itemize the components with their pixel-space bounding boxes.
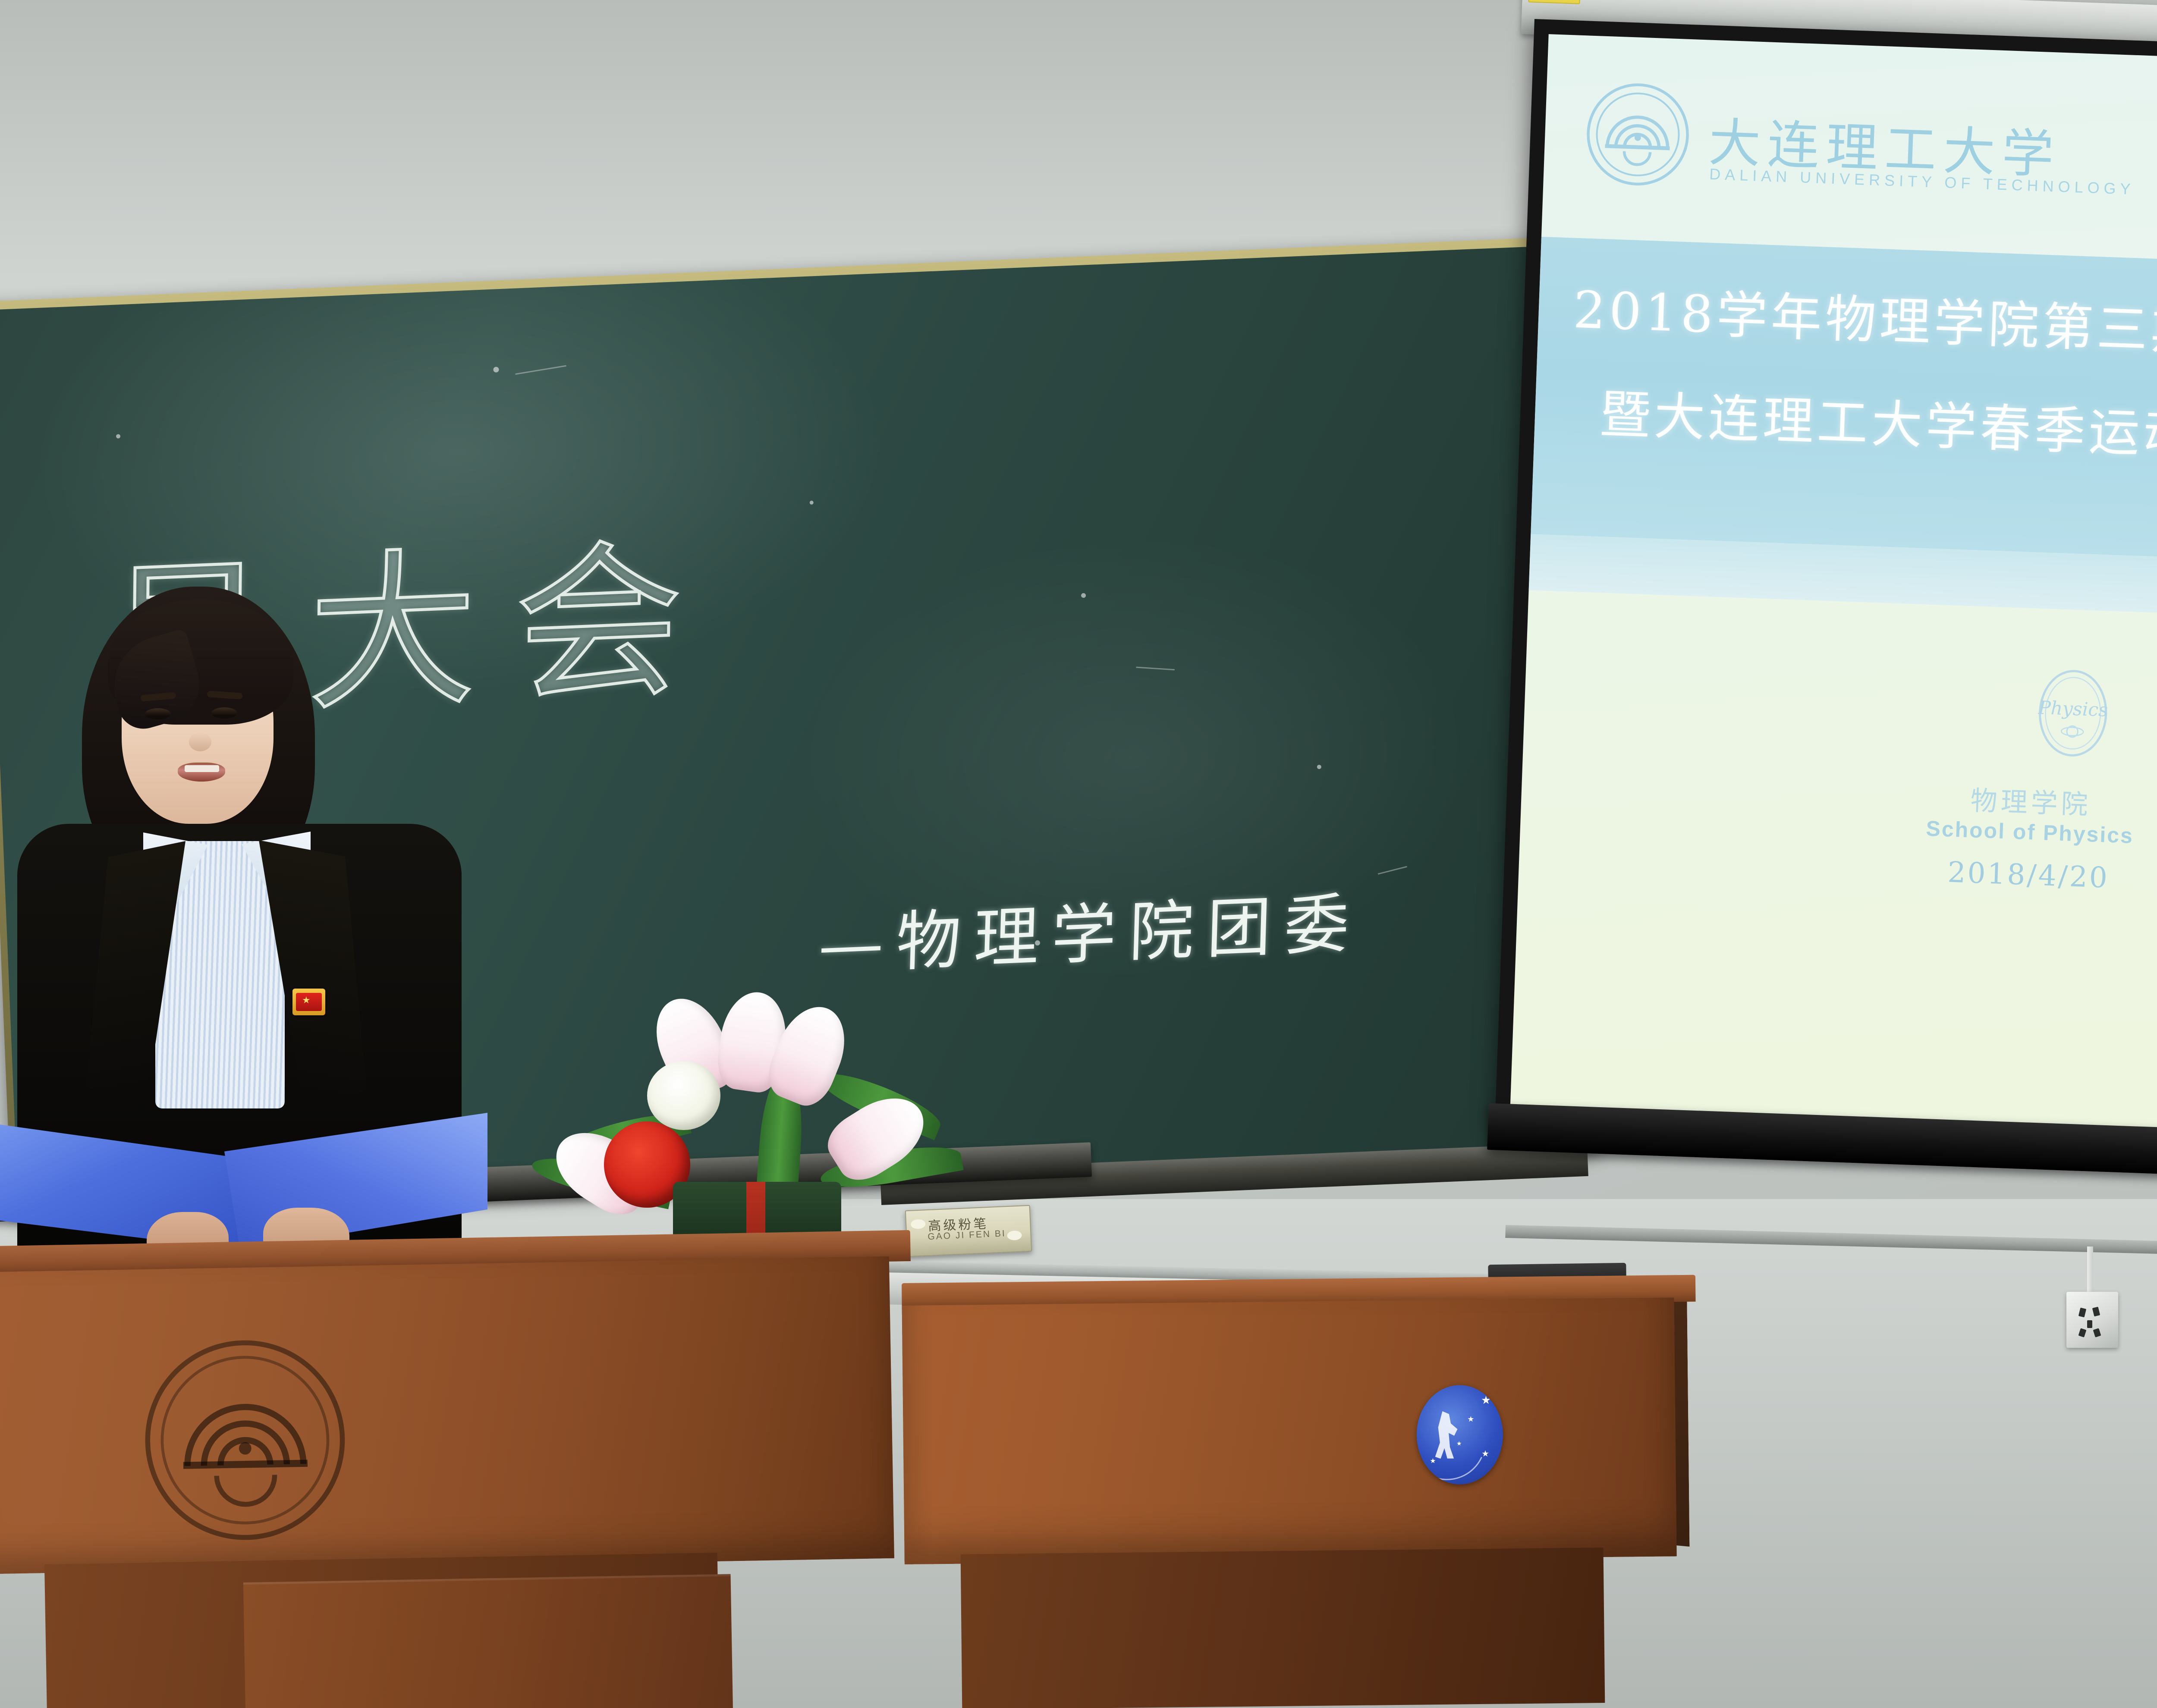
blue-oval-star-sticker-icon: ★ ★ ★ ★ ★ bbox=[1416, 1385, 1503, 1485]
screen-black-border: 大连理工大学 DALIAN UNIVERSITY OF TECHNOLOGY 2… bbox=[1495, 19, 2157, 1160]
svg-text:Physics: Physics bbox=[2038, 697, 2108, 721]
blackboard-subtitle: —物理学院团委 bbox=[818, 871, 1363, 987]
projection-screen: 大连理工大学 DALIAN UNIVERSITY OF TECHNOLOGY 2… bbox=[1493, 0, 2157, 1210]
podium-right[interactable]: ★ ★ ★ ★ ★ bbox=[902, 1275, 1700, 1708]
eye-left bbox=[145, 708, 171, 719]
speaker-person: ★ bbox=[0, 582, 526, 1281]
youth-league-badge-icon: ★ bbox=[292, 989, 325, 1015]
wall-power-outlet[interactable] bbox=[2066, 1292, 2118, 1348]
nose bbox=[189, 732, 211, 751]
slide-date: 2018/4/20 bbox=[1519, 840, 2157, 910]
eye-right bbox=[211, 707, 237, 719]
podium-left[interactable] bbox=[0, 1230, 919, 1708]
physics-oval-seal-icon: Physics bbox=[2034, 665, 2111, 762]
dut-seal-carving-icon bbox=[140, 1335, 350, 1545]
teeth bbox=[185, 765, 219, 772]
slide-surface: 大连理工大学 DALIAN UNIVERSITY OF TECHNOLOGY 2… bbox=[1510, 34, 2157, 1145]
yellow-warning-label-icon bbox=[1528, 0, 1580, 4]
dut-seal-icon bbox=[1582, 78, 1694, 190]
classroom-scene: 员大会 —物理学院团委 高级粉笔 GAO JI FEN BI bbox=[0, 0, 2157, 1708]
outlet-conduit bbox=[2087, 1246, 2093, 1294]
white-rose bbox=[647, 1061, 720, 1130]
